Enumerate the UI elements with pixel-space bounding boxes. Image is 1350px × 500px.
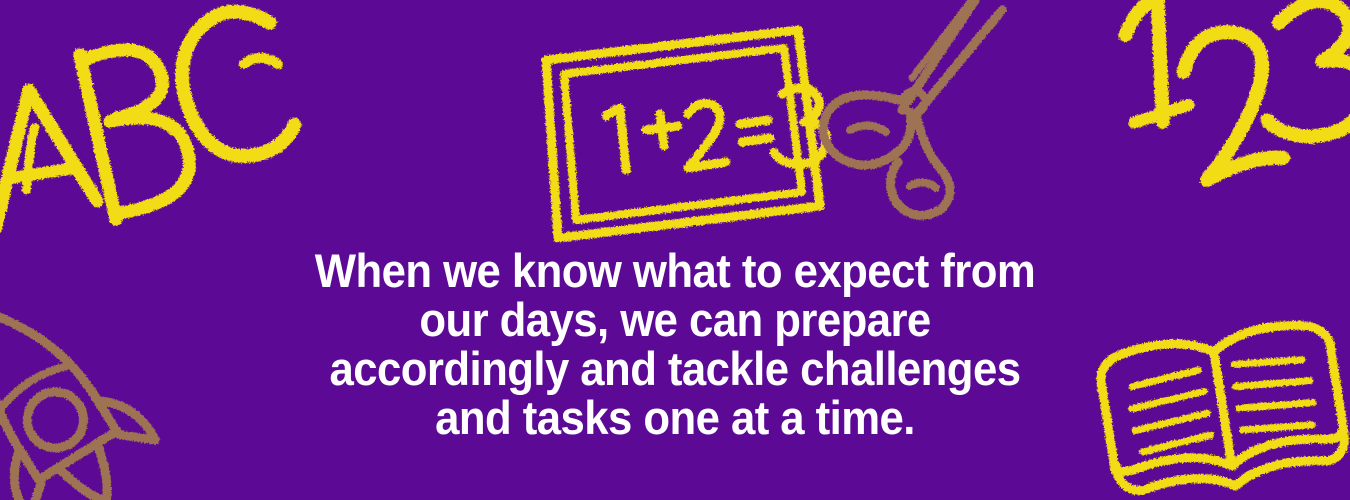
- numbers-123-doodle: [1098, 0, 1350, 230]
- quote-line-2: our days, we can prepare: [47, 295, 1303, 344]
- chalkboard-doodle: [528, 18, 838, 243]
- quote-line-1: When we know what to expect from: [47, 246, 1303, 295]
- quote-line-3: accordingly and tackle challenges: [47, 344, 1303, 393]
- quote-text: When we know what to expect from our day…: [47, 246, 1303, 442]
- chalkboard-equation-glyphs: [606, 88, 826, 170]
- scissors-doodle: [806, 0, 1016, 132]
- inspirational-quote-banner: When we know what to expect from our day…: [0, 0, 1350, 500]
- abc-letters-doodle: [0, 0, 318, 240]
- quote-line-4: and tasks one at a time.: [47, 393, 1303, 442]
